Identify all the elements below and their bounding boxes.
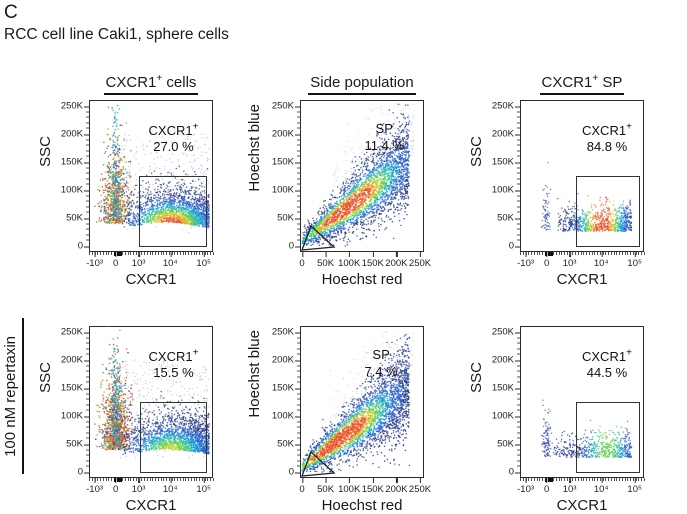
x-tick-minor bbox=[128, 252, 129, 255]
x-tick-minor bbox=[144, 252, 145, 255]
x-tick-label: 250K bbox=[409, 478, 431, 495]
y-tick-label: 100K bbox=[492, 185, 520, 196]
x-tick-minor bbox=[180, 478, 181, 481]
plot-title-cxcr1-cells: CXCR1+ cells bbox=[89, 74, 213, 95]
x-tick-label: 50K bbox=[317, 252, 334, 269]
x-tick-minor bbox=[128, 478, 129, 481]
x-tick-minor bbox=[641, 478, 642, 481]
y-tick-label: 150K bbox=[272, 157, 300, 168]
x-tick-minor bbox=[616, 478, 617, 481]
x-tick-minor bbox=[194, 478, 195, 481]
plot-r2c1[interactable]: CXCR1+ 15.5 % SSC CXCR1 050K100K150K200K… bbox=[89, 326, 213, 478]
x-tick-minor bbox=[111, 478, 112, 481]
y-tick-label: 150K bbox=[492, 383, 520, 394]
gate-label-main: CXCR1 bbox=[582, 349, 626, 364]
x-tick-minor bbox=[191, 252, 192, 255]
x-tick-minor bbox=[589, 478, 590, 481]
x-tick-minor bbox=[177, 478, 178, 481]
x-tick-minor bbox=[572, 252, 573, 255]
x-tick-minor bbox=[185, 478, 186, 481]
gate-label-value: 44.5 % bbox=[587, 365, 627, 380]
y-tick-minor bbox=[297, 432, 300, 433]
gate-label-value: 27.0 % bbox=[153, 139, 193, 154]
y-tick-label: 150K bbox=[272, 383, 300, 394]
x-tick-minor bbox=[644, 252, 645, 255]
x-tick-minor bbox=[100, 478, 101, 481]
x-tick-minor bbox=[196, 252, 197, 255]
y-tick-minor bbox=[517, 229, 520, 230]
x-tick-minor bbox=[161, 252, 162, 255]
x-tick-minor bbox=[158, 252, 159, 255]
gate-label-value: 7.4 % bbox=[364, 364, 397, 379]
y-tick-minor bbox=[517, 117, 520, 118]
y-tick-label: 100K bbox=[61, 411, 89, 422]
x-tick-minor bbox=[150, 252, 151, 255]
x-tick-minor bbox=[625, 252, 626, 255]
y-tick-label: 150K bbox=[61, 157, 89, 168]
row-label-text: 100 nM repertaxin bbox=[2, 336, 19, 457]
y-tick-minor bbox=[517, 410, 520, 411]
x-tick-minor bbox=[163, 252, 164, 255]
y-tick-label: 0 bbox=[289, 467, 300, 478]
y-tick-minor bbox=[297, 156, 300, 157]
x-tick-minor bbox=[581, 478, 582, 481]
axis-title-cxcr1: CXCR1 bbox=[520, 271, 644, 288]
x-tick-minor bbox=[581, 252, 582, 255]
y-tick-label: 250K bbox=[492, 101, 520, 112]
x-tick-minor bbox=[213, 252, 214, 255]
x-tick-minor bbox=[125, 252, 126, 255]
axis-title-cxcr1: CXCR1 bbox=[89, 271, 213, 288]
x-tick-minor bbox=[92, 478, 93, 481]
x-tick-minor bbox=[111, 252, 112, 255]
x-tick-minor bbox=[520, 252, 521, 255]
y-tick-label: 100K bbox=[61, 185, 89, 196]
x-tick-label: 150K bbox=[362, 478, 384, 495]
x-tick-minor bbox=[630, 252, 631, 255]
x-tick-minor bbox=[526, 252, 527, 255]
y-tick-minor bbox=[297, 128, 300, 129]
gate-label-main: CXCR1 bbox=[582, 123, 626, 138]
y-tick-label: 50K bbox=[497, 439, 520, 450]
y-tick-minor bbox=[517, 173, 520, 174]
gate-label-sp: SP 11.4 % bbox=[364, 121, 404, 154]
x-tick-minor bbox=[570, 252, 571, 255]
x-tick-minor bbox=[152, 252, 153, 255]
y-tick-minor bbox=[517, 438, 520, 439]
x-tick-minor bbox=[169, 252, 170, 255]
y-tick-minor bbox=[297, 376, 300, 377]
y-tick-minor bbox=[86, 399, 89, 400]
y-tick-minor bbox=[517, 354, 520, 355]
x-tick-minor bbox=[141, 478, 142, 481]
plot-title-side-population: Side population bbox=[300, 74, 424, 95]
x-tick-minor bbox=[572, 478, 573, 481]
x-tick-minor bbox=[556, 252, 557, 255]
gate-label-value: 15.5 % bbox=[153, 365, 193, 380]
x-tick-minor bbox=[539, 478, 540, 481]
y-tick-minor bbox=[517, 234, 520, 235]
x-tick-minor bbox=[575, 252, 576, 255]
x-tick-minor bbox=[103, 252, 104, 255]
y-tick-minor bbox=[517, 432, 520, 433]
y-tick-minor bbox=[517, 460, 520, 461]
axis-title-ssc: SSC bbox=[37, 136, 54, 167]
y-tick-minor bbox=[297, 438, 300, 439]
y-tick-minor bbox=[517, 122, 520, 123]
x-tick-minor bbox=[616, 252, 617, 255]
x-tick-minor bbox=[152, 478, 153, 481]
y-tick-label: 250K bbox=[272, 327, 300, 338]
y-tick-minor bbox=[86, 432, 89, 433]
y-tick-minor bbox=[86, 410, 89, 411]
x-tick-minor bbox=[139, 252, 140, 255]
y-tick-minor bbox=[86, 173, 89, 174]
gate-label-main: SP bbox=[372, 347, 389, 362]
x-tick-minor bbox=[619, 478, 620, 481]
gate-label-sp: SP 7.4 % bbox=[364, 347, 397, 380]
plot-r2c2[interactable]: SP 7.4 % Hoechst blue Hoechst red 050K10… bbox=[300, 326, 424, 478]
y-tick-minor bbox=[86, 343, 89, 344]
gate-label-cxcr1: CXCR1+ 27.0 % bbox=[149, 123, 199, 156]
x-tick-minor bbox=[625, 478, 626, 481]
gate-label-cxcr1: CXCR1+ 44.5 % bbox=[582, 349, 632, 382]
plot-title-cxcr1-sp: CXCR1+ SP bbox=[520, 74, 644, 95]
x-tick-minor bbox=[194, 252, 195, 255]
x-tick-minor bbox=[166, 252, 167, 255]
x-tick-minor bbox=[627, 478, 628, 481]
x-tick-minor bbox=[188, 252, 189, 255]
x-tick-minor bbox=[528, 478, 529, 481]
x-tick-minor bbox=[644, 478, 645, 481]
y-tick-minor bbox=[297, 117, 300, 118]
x-tick-minor bbox=[586, 252, 587, 255]
x-tick-minor bbox=[619, 252, 620, 255]
x-tick-minor bbox=[523, 478, 524, 481]
x-tick-minor bbox=[537, 478, 538, 481]
x-tick-label: 0 bbox=[299, 252, 304, 269]
y-tick-minor bbox=[297, 348, 300, 349]
y-tick-minor bbox=[86, 348, 89, 349]
x-tick-minor bbox=[205, 252, 206, 255]
x-tick-minor bbox=[191, 478, 192, 481]
x-tick-minor bbox=[144, 478, 145, 481]
y-tick-minor bbox=[86, 234, 89, 235]
gate-triangle-sp[interactable] bbox=[300, 326, 424, 478]
x-tick-label: 250K bbox=[409, 252, 431, 269]
x-tick-minor bbox=[166, 478, 167, 481]
y-tick-label: 250K bbox=[492, 327, 520, 338]
gate-label-value: 84.8 % bbox=[587, 139, 627, 154]
x-tick-minor bbox=[95, 252, 96, 255]
x-tick-minor bbox=[199, 478, 200, 481]
x-tick-minor bbox=[608, 252, 609, 255]
y-tick-minor bbox=[86, 128, 89, 129]
y-tick-minor bbox=[517, 240, 520, 241]
y-tick-minor bbox=[297, 460, 300, 461]
plot-title-tail: cells bbox=[162, 74, 196, 91]
x-tick-minor bbox=[213, 478, 214, 481]
x-tick-minor bbox=[207, 478, 208, 481]
y-tick-minor bbox=[517, 466, 520, 467]
x-tick-minor bbox=[638, 252, 639, 255]
y-tick-minor bbox=[297, 404, 300, 405]
y-tick-minor bbox=[517, 145, 520, 146]
y-tick-label: 0 bbox=[509, 241, 520, 252]
x-tick-label: 50K bbox=[317, 478, 334, 495]
x-tick-minor bbox=[600, 478, 601, 481]
x-tick-minor bbox=[103, 478, 104, 481]
x-tick-minor bbox=[122, 252, 123, 255]
x-tick-minor bbox=[199, 252, 200, 255]
y-tick-label: 100K bbox=[492, 411, 520, 422]
gate-label-sup: + bbox=[626, 347, 632, 358]
x-tick-minor bbox=[130, 478, 131, 481]
x-tick-minor bbox=[553, 478, 554, 481]
x-tick-minor bbox=[158, 478, 159, 481]
x-tick-minor bbox=[567, 252, 568, 255]
x-tick-minor bbox=[106, 478, 107, 481]
plot-r1c1[interactable]: CXCR1+ cells CXCR1+ 27.0 % SSC CXCR1 050… bbox=[89, 100, 213, 252]
y-tick-label: 0 bbox=[78, 467, 89, 478]
y-tick-label: 200K bbox=[61, 129, 89, 140]
gate-label-value: 11.4 % bbox=[364, 138, 404, 153]
x-tick-minor bbox=[95, 478, 96, 481]
y-tick-label: 200K bbox=[272, 355, 300, 366]
x-tick-minor bbox=[133, 478, 134, 481]
x-tick-minor bbox=[600, 252, 601, 255]
gate-label-main: SP bbox=[376, 121, 393, 136]
x-tick-minor bbox=[183, 478, 184, 481]
y-tick-minor bbox=[86, 212, 89, 213]
x-tick-minor bbox=[570, 478, 571, 481]
y-tick-minor bbox=[297, 399, 300, 400]
x-tick-minor bbox=[161, 478, 162, 481]
y-tick-label: 250K bbox=[61, 101, 89, 112]
gate-label-main: CXCR1 bbox=[149, 349, 193, 364]
x-tick-minor bbox=[172, 252, 173, 255]
x-tick-minor bbox=[89, 478, 90, 481]
x-tick-minor bbox=[136, 252, 137, 255]
axis-title-ssc: SSC bbox=[37, 362, 54, 393]
axis-title-cxcr1: CXCR1 bbox=[89, 497, 213, 514]
x-tick-minor bbox=[614, 252, 615, 255]
x-tick-minor bbox=[147, 478, 148, 481]
x-tick-minor bbox=[611, 478, 612, 481]
x-tick-minor bbox=[633, 478, 634, 481]
x-tick-minor bbox=[531, 478, 532, 481]
y-tick-minor bbox=[297, 184, 300, 185]
x-tick-minor bbox=[531, 252, 532, 255]
gate-label-sup: + bbox=[626, 121, 632, 132]
x-tick-minor bbox=[542, 252, 543, 255]
x-tick-minor bbox=[575, 478, 576, 481]
y-tick-minor bbox=[517, 348, 520, 349]
y-tick-label: 200K bbox=[272, 129, 300, 140]
x-tick-label: 100K bbox=[338, 252, 360, 269]
y-tick-minor bbox=[86, 201, 89, 202]
x-tick-minor bbox=[183, 252, 184, 255]
x-tick-minor bbox=[592, 478, 593, 481]
x-tick-minor bbox=[605, 252, 606, 255]
x-tick-minor bbox=[172, 478, 173, 481]
y-tick-minor bbox=[297, 173, 300, 174]
y-tick-minor bbox=[297, 206, 300, 207]
x-tick-minor bbox=[177, 252, 178, 255]
y-tick-label: 100K bbox=[272, 185, 300, 196]
x-tick-minor bbox=[583, 252, 584, 255]
x-tick-minor bbox=[559, 478, 560, 481]
axis-title-cxcr1: CXCR1 bbox=[520, 497, 644, 514]
y-tick-minor bbox=[297, 212, 300, 213]
axis-title-hoechst-blue: Hoechst blue bbox=[246, 330, 263, 418]
y-tick-minor bbox=[86, 376, 89, 377]
figure-panel-letter: C bbox=[4, 2, 18, 24]
y-tick-minor bbox=[86, 404, 89, 405]
x-tick-minor bbox=[92, 252, 93, 255]
gate-rect-cxcr1[interactable] bbox=[139, 176, 208, 247]
y-tick-minor bbox=[297, 234, 300, 235]
y-tick-minor bbox=[517, 178, 520, 179]
y-tick-minor bbox=[86, 382, 89, 383]
y-tick-minor bbox=[297, 427, 300, 428]
gate-label-sup: + bbox=[193, 347, 199, 358]
y-tick-minor bbox=[297, 145, 300, 146]
gate-rect-cxcr1[interactable] bbox=[576, 402, 640, 473]
x-tick-minor bbox=[108, 478, 109, 481]
x-tick-minor bbox=[174, 478, 175, 481]
x-tick-minor bbox=[202, 252, 203, 255]
x-tick-minor bbox=[561, 252, 562, 255]
x-tick-minor bbox=[553, 252, 554, 255]
y-tick-minor bbox=[297, 201, 300, 202]
x-tick-minor bbox=[638, 478, 639, 481]
x-tick-label: 0 bbox=[299, 478, 304, 495]
y-tick-label: 50K bbox=[277, 439, 300, 450]
y-tick-minor bbox=[86, 240, 89, 241]
x-tick-minor bbox=[636, 252, 637, 255]
y-tick-minor bbox=[86, 354, 89, 355]
x-tick-minor bbox=[542, 478, 543, 481]
x-tick-minor bbox=[163, 478, 164, 481]
y-tick-minor bbox=[297, 150, 300, 151]
y-tick-label: 100K bbox=[272, 411, 300, 422]
x-tick-minor bbox=[627, 252, 628, 255]
gate-label-main: CXCR1 bbox=[149, 123, 193, 138]
y-tick-label: 50K bbox=[497, 213, 520, 224]
axis-title-hoechst-red: Hoechst red bbox=[300, 497, 424, 514]
y-tick-minor bbox=[86, 438, 89, 439]
x-tick-minor bbox=[169, 478, 170, 481]
gate-rect-cxcr1[interactable] bbox=[576, 176, 640, 247]
x-tick-minor bbox=[603, 478, 604, 481]
x-tick-minor bbox=[133, 252, 134, 255]
y-tick-minor bbox=[517, 128, 520, 129]
x-tick-minor bbox=[207, 252, 208, 255]
x-tick-minor bbox=[155, 478, 156, 481]
y-tick-label: 200K bbox=[61, 355, 89, 366]
x-tick-minor bbox=[136, 478, 137, 481]
y-tick-minor bbox=[517, 404, 520, 405]
plot-title-tail: SP bbox=[598, 74, 622, 91]
y-tick-minor bbox=[517, 427, 520, 428]
y-tick-minor bbox=[297, 371, 300, 372]
y-tick-minor bbox=[517, 371, 520, 372]
x-tick-minor bbox=[205, 478, 206, 481]
x-tick-minor bbox=[139, 478, 140, 481]
plot-r1c2[interactable]: Side population SP 11.4 % Hoechst blue H… bbox=[300, 100, 424, 252]
x-tick-minor bbox=[564, 478, 565, 481]
x-tick-minor bbox=[526, 478, 527, 481]
x-tick-minor bbox=[556, 478, 557, 481]
plot-title-main: CXCR1 bbox=[542, 74, 593, 91]
y-tick-minor bbox=[297, 466, 300, 467]
x-tick-minor bbox=[180, 252, 181, 255]
x-tick-minor bbox=[106, 252, 107, 255]
x-tick-label: 200K bbox=[385, 252, 407, 269]
y-tick-minor bbox=[297, 410, 300, 411]
plot-r2c3[interactable]: CXCR1+ 44.5 % SSC CXCR1 050K100K150K200K… bbox=[520, 326, 644, 478]
y-tick-label: 250K bbox=[61, 327, 89, 338]
y-tick-minor bbox=[297, 240, 300, 241]
y-tick-label: 0 bbox=[78, 241, 89, 252]
x-tick-minor bbox=[559, 252, 560, 255]
x-tick-minor bbox=[567, 478, 568, 481]
y-tick-label: 150K bbox=[492, 157, 520, 168]
x-tick-minor bbox=[592, 252, 593, 255]
x-tick-minor bbox=[622, 252, 623, 255]
x-tick-minor bbox=[630, 478, 631, 481]
y-tick-minor bbox=[517, 382, 520, 383]
plot-r1c3[interactable]: CXCR1+ SP CXCR1+ 84.8 % SSC CXCR1 050K10… bbox=[520, 100, 644, 252]
x-tick-minor bbox=[108, 252, 109, 255]
y-tick-minor bbox=[297, 343, 300, 344]
x-tick-minor bbox=[202, 478, 203, 481]
figure-subtitle: RCC cell line Caki1, sphere cells bbox=[4, 26, 229, 44]
gate-rect-cxcr1[interactable] bbox=[140, 402, 208, 473]
axis-title-ssc: SSC bbox=[468, 136, 485, 167]
y-tick-label: 50K bbox=[66, 213, 89, 224]
x-tick-minor bbox=[578, 252, 579, 255]
y-tick-minor bbox=[517, 376, 520, 377]
x-tick-minor bbox=[641, 252, 642, 255]
x-tick-minor bbox=[141, 252, 142, 255]
y-tick-label: 0 bbox=[289, 241, 300, 252]
x-tick-minor bbox=[210, 478, 211, 481]
x-tick-minor bbox=[636, 478, 637, 481]
x-tick-minor bbox=[534, 478, 535, 481]
x-tick-label: 100K bbox=[338, 478, 360, 495]
x-tick-minor bbox=[155, 252, 156, 255]
x-tick-minor bbox=[89, 252, 90, 255]
row-label-repertaxin: 100 nM repertaxin bbox=[2, 318, 24, 474]
y-tick-minor bbox=[517, 156, 520, 157]
y-tick-minor bbox=[517, 212, 520, 213]
x-tick-minor bbox=[614, 478, 615, 481]
axis-title-ssc: SSC bbox=[468, 362, 485, 393]
y-tick-minor bbox=[297, 382, 300, 383]
x-tick-minor bbox=[583, 478, 584, 481]
x-tick-minor bbox=[523, 252, 524, 255]
gate-triangle-sp[interactable] bbox=[300, 100, 424, 252]
y-tick-label: 0 bbox=[509, 467, 520, 478]
y-tick-minor bbox=[86, 206, 89, 207]
y-tick-minor bbox=[86, 455, 89, 456]
x-tick-minor bbox=[597, 478, 598, 481]
x-tick-minor bbox=[185, 252, 186, 255]
x-tick-minor bbox=[97, 478, 98, 481]
plot-title-main: Side population bbox=[310, 74, 413, 91]
